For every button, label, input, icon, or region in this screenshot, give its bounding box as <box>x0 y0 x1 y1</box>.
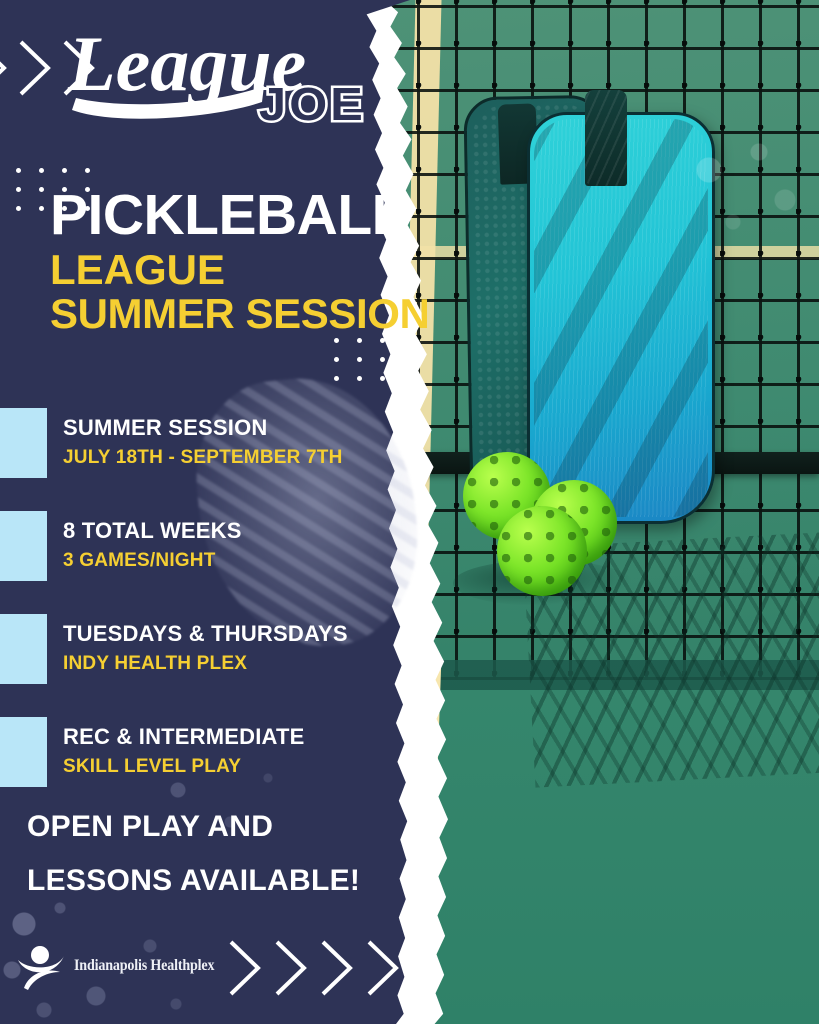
list-item-subtitle: 3 GAMES/NIGHT <box>63 548 242 574</box>
partner-logo: Indianapolis Healthplex <box>14 938 233 994</box>
poster-canvas: League JOE PICKLEBALL LEAGUE SUMMER SESS… <box>0 0 819 1024</box>
list-item: REC & INTERMEDIATE SKILL LEVEL PLAY <box>0 717 420 787</box>
chevron-group-bottom <box>228 938 400 998</box>
lens-flare-spots <box>689 140 809 250</box>
league-joe-logo: League JOE <box>66 18 366 130</box>
callout-line-2: LESSONS AVAILABLE! <box>27 866 407 896</box>
list-item-subtitle: JULY 18TH - SEPTEMBER 7TH <box>63 445 343 471</box>
bullet-square <box>0 717 47 787</box>
chevron-right-icon <box>0 38 8 98</box>
svg-text:JOE: JOE <box>259 79 366 130</box>
list-item-title: SUMMER SESSION <box>63 415 343 441</box>
dot-grid-decoration <box>334 338 408 395</box>
logo-secondary-text: JOE <box>259 79 366 130</box>
headline-block: PICKLEBALL LEAGUE SUMMER SESSION <box>50 188 420 336</box>
bullet-square <box>0 614 47 684</box>
list-item-title: REC & INTERMEDIATE <box>63 724 305 750</box>
list-item-title: 8 TOTAL WEEKS <box>63 518 242 544</box>
pickleball-photo <box>379 0 819 1024</box>
info-list: SUMMER SESSION JULY 18TH - SEPTEMBER 7TH… <box>0 408 420 820</box>
headline-line-1: PICKLEBALL <box>50 188 420 244</box>
left-panel: League JOE PICKLEBALL LEAGUE SUMMER SESS… <box>0 0 420 1024</box>
paddle-front-grip <box>585 90 627 186</box>
list-item-subtitle: SKILL LEVEL PLAY <box>63 754 305 780</box>
callout-line-1: OPEN PLAY AND <box>27 812 407 842</box>
list-item-title: TUESDAYS & THURSDAYS <box>63 621 348 647</box>
list-item: 8 TOTAL WEEKS 3 GAMES/NIGHT <box>0 511 420 581</box>
partner-name: Indianapolis Healthplex <box>74 957 214 975</box>
chevron-right-icon <box>228 938 262 998</box>
list-item: SUMMER SESSION JULY 18TH - SEPTEMBER 7TH <box>0 408 420 478</box>
list-item-subtitle: INDY HEALTH PLEX <box>63 651 348 677</box>
bullet-square <box>0 408 47 478</box>
callout-block: OPEN PLAY AND LESSONS AVAILABLE! <box>27 812 407 920</box>
pickleball-ball <box>497 506 587 596</box>
headline-line-3: SUMMER SESSION <box>50 292 420 336</box>
ball-holes <box>497 506 587 596</box>
headline-line-2: LEAGUE <box>50 248 420 292</box>
chevron-right-icon <box>366 938 400 998</box>
list-item: TUESDAYS & THURSDAYS INDY HEALTH PLEX <box>0 614 420 684</box>
grip-wrap-texture <box>585 90 627 186</box>
bullet-square <box>0 511 47 581</box>
chevron-right-icon <box>274 938 308 998</box>
chevron-right-icon <box>18 38 52 98</box>
running-figure-icon <box>14 938 70 994</box>
chevron-right-icon <box>320 938 354 998</box>
